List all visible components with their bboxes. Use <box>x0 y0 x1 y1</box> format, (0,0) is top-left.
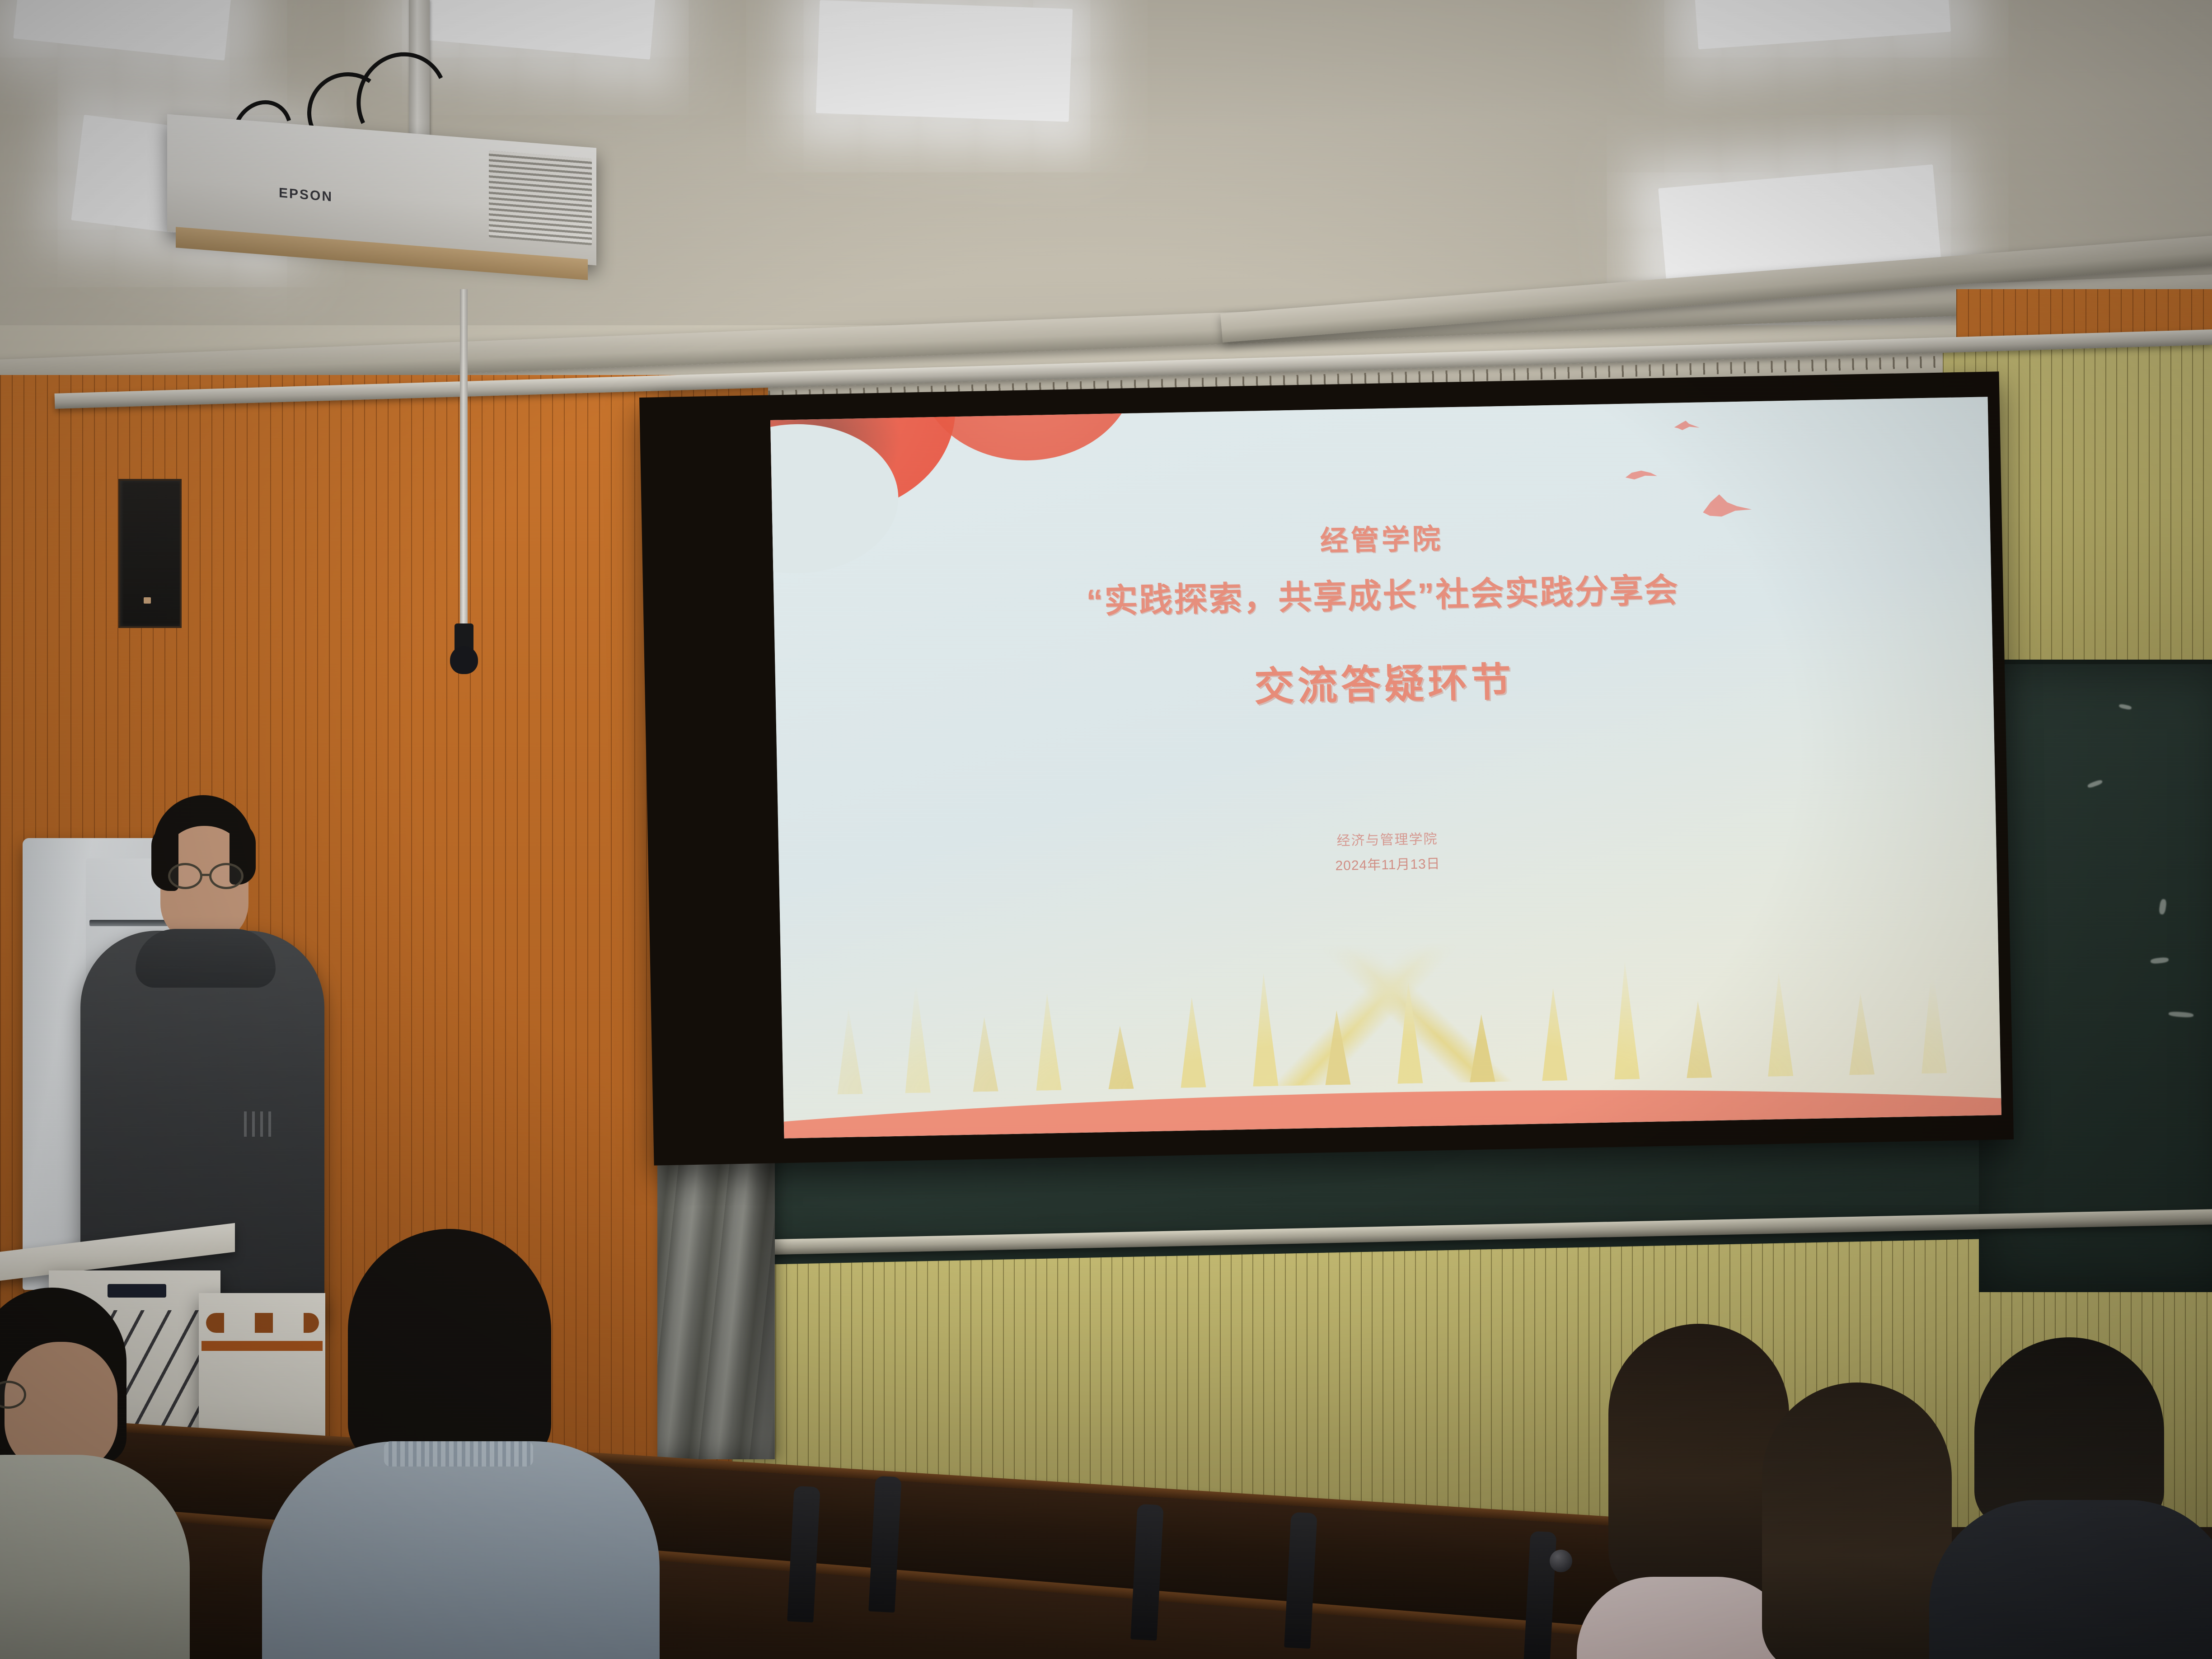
bird-icon <box>1674 421 1699 433</box>
projector: EPSON <box>167 131 596 248</box>
student-far-right <box>1938 1337 2212 1659</box>
microphone-pole <box>460 289 468 651</box>
ceiling-light-panel <box>816 0 1073 122</box>
classroom-scene: EPSON <box>0 0 2212 1659</box>
projection-screen: 经管学院 “实践探索，共享成长”社会实践分享会 交流答疑环节 经济与管理学院 2… <box>770 397 2001 1138</box>
bird-icon <box>1625 469 1657 481</box>
student-denim-shirt <box>262 1441 660 1659</box>
student-torso <box>0 1455 190 1659</box>
wall-speaker <box>118 479 182 628</box>
green-chalkboard-right <box>1979 660 2212 1292</box>
presentation-slide: 经管学院 “实践探索，共享成长”社会实践分享会 交流答疑环节 经济与管理学院 2… <box>770 397 2001 1138</box>
slide-mountain-decoration <box>780 885 2001 1095</box>
student-dark-jacket <box>1929 1500 2212 1659</box>
presenter-hood <box>136 929 276 988</box>
student-hair <box>348 1229 551 1464</box>
student-head <box>5 1342 117 1473</box>
student-hair <box>1974 1337 2164 1527</box>
projector-vent-grille <box>489 150 592 245</box>
student-hair <box>1762 1382 1952 1659</box>
slide-section-title: 交流答疑环节 <box>775 641 1993 722</box>
student-front-center <box>280 1229 678 1659</box>
presenter-glasses-lens <box>209 863 244 889</box>
presenter-chest-logo <box>244 1111 271 1137</box>
presenter-glasses-bridge <box>202 874 210 876</box>
student-shirt-collar <box>384 1441 533 1467</box>
student-front-left <box>0 1288 203 1659</box>
microphone-capsule <box>450 646 478 674</box>
speaker-indicator-led <box>144 597 151 604</box>
presenter-glasses-lens <box>168 863 202 889</box>
slide-org-line: 经管学院 <box>773 505 1991 569</box>
slide-title: “实践探索，共享成长”社会实践分享会 <box>773 557 1992 629</box>
